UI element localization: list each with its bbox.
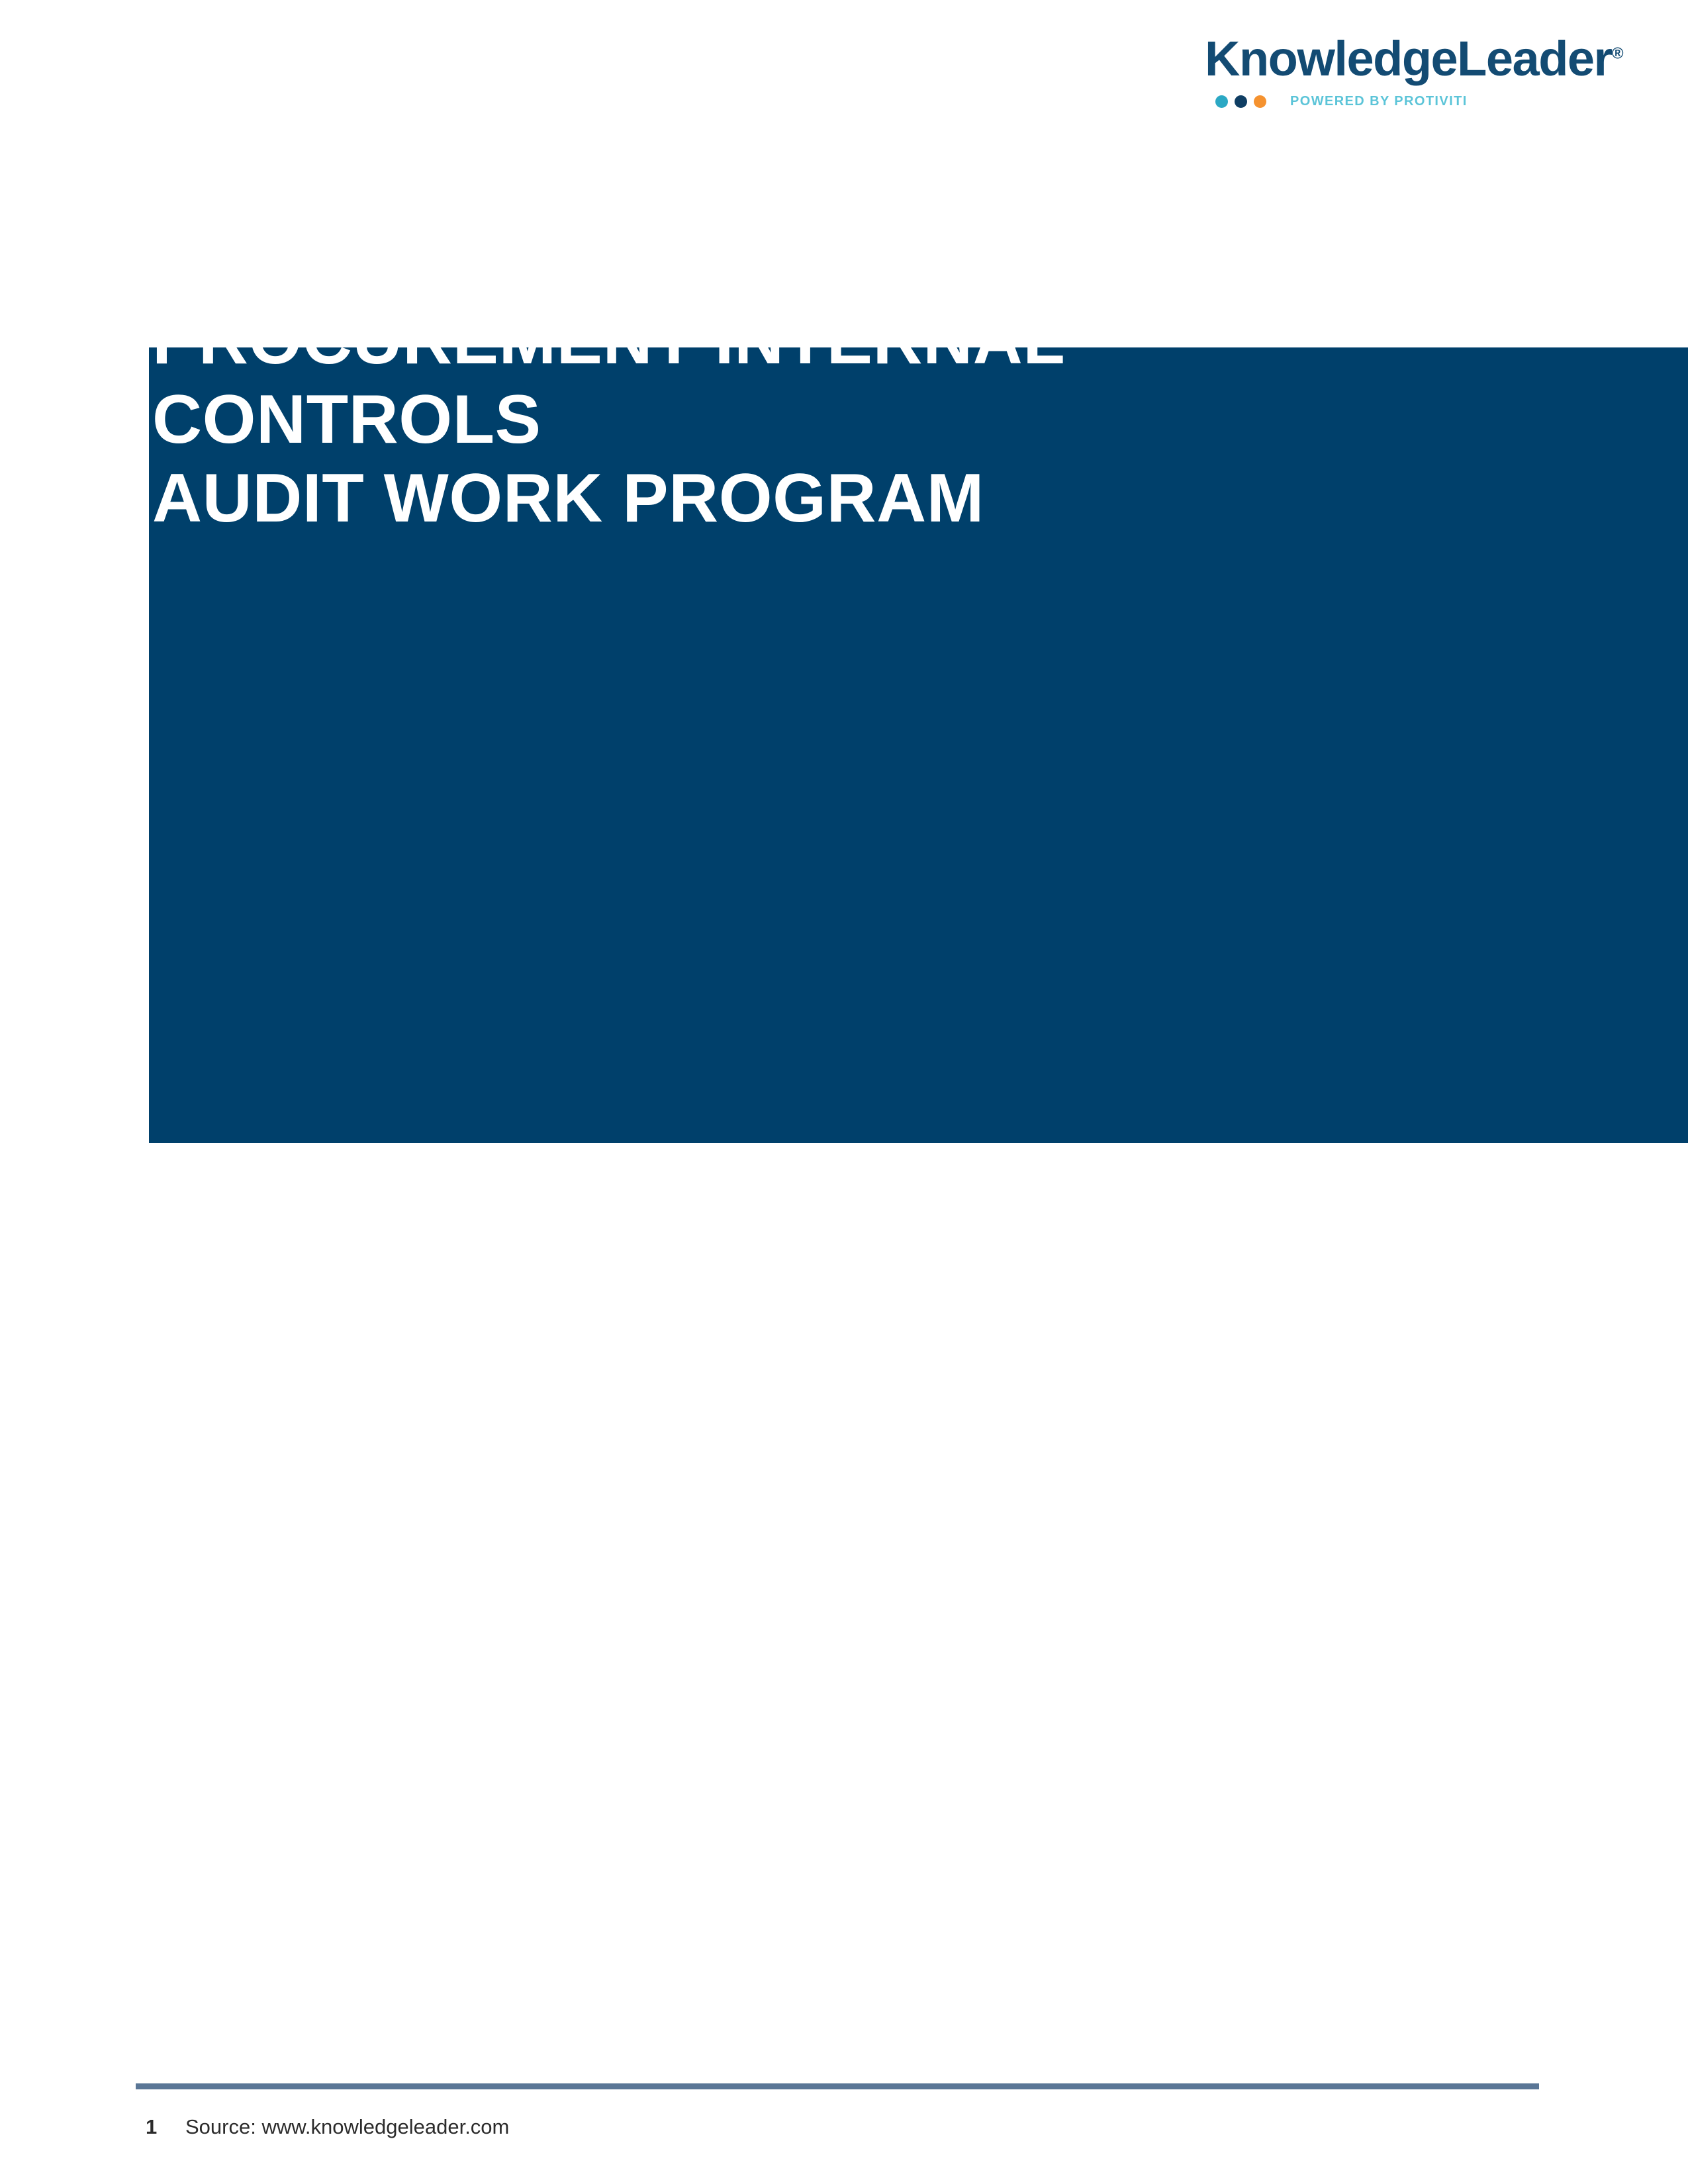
footer-source-text: Source: www.knowledgeleader.com	[185, 2115, 509, 2139]
page-title-line-2: AUDIT WORK PROGRAM	[152, 460, 984, 537]
dot-orange-icon	[1254, 95, 1266, 108]
logo-wordmark-text: KnowledgeLeader	[1205, 31, 1612, 86]
footer-divider	[136, 2083, 1539, 2089]
knowledgeleader-logo: KnowledgeLeader® POWERED BY PROTIVITI	[1205, 34, 1549, 109]
logo-wordmark: KnowledgeLeader®	[1205, 34, 1549, 83]
document-page: KnowledgeLeader® POWERED BY PROTIVITI PR…	[0, 0, 1688, 2184]
dot-teal-icon	[1215, 95, 1228, 108]
logo-dots	[1215, 95, 1266, 108]
logo-tagline: POWERED BY PROTIVITI	[1290, 94, 1468, 109]
page-title: PROCUREMENT INTERNAL CONTROLSAUDIT WORK …	[152, 301, 1470, 539]
page-number: 1	[136, 2115, 185, 2139]
dot-navy-icon	[1235, 95, 1247, 108]
logo-tagline-row: POWERED BY PROTIVITI	[1205, 94, 1549, 109]
page-title-line-1: PROCUREMENT INTERNAL CONTROLS	[152, 302, 1064, 458]
registered-trademark-icon: ®	[1612, 44, 1624, 62]
footer: 1 Source: www.knowledgeleader.com	[136, 2115, 509, 2139]
